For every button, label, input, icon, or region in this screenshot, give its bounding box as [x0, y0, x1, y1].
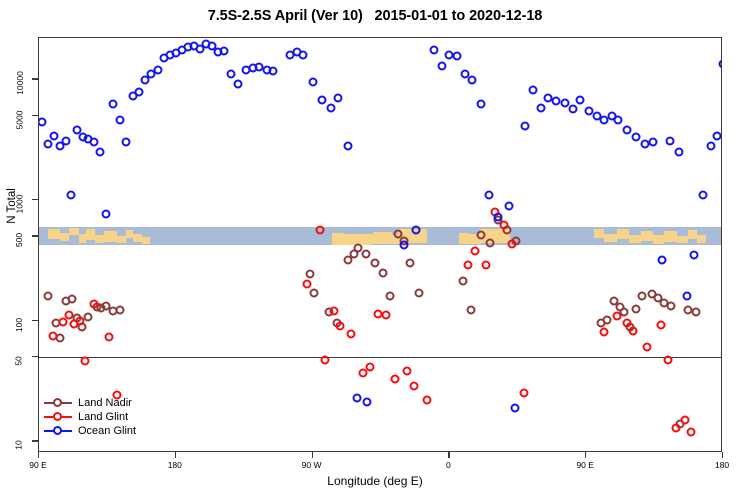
page-title: 7.5S-2.5S April (Ver 10) 2015-01-01 to 2… [0, 8, 750, 24]
data-point [649, 138, 658, 147]
data-point [89, 138, 98, 147]
x-tick-label: 90 E [565, 460, 605, 470]
data-point [481, 260, 490, 269]
data-point [310, 289, 319, 298]
data-point [226, 70, 235, 79]
legend-marker-icon [44, 396, 72, 410]
y-tick-label: 10 [8, 435, 30, 445]
legend-item-land-nadir[interactable]: Land Nadir [44, 396, 164, 410]
data-point [504, 201, 513, 210]
legend-marker-icon [44, 424, 72, 438]
data-point [667, 301, 676, 310]
data-point [614, 116, 623, 125]
data-point [334, 94, 343, 103]
legend-item-land-glint[interactable]: Land Glint [44, 410, 164, 424]
x-tick-label: 0 [428, 460, 468, 470]
data-point [405, 259, 414, 268]
data-point [681, 416, 690, 425]
data-point [302, 280, 311, 289]
data-point [623, 126, 632, 135]
data-point [690, 250, 699, 259]
data-point [603, 315, 612, 324]
data-point [638, 292, 647, 301]
data-point [576, 95, 585, 104]
data-point [68, 295, 77, 304]
data-point [50, 131, 59, 140]
data-point [115, 306, 124, 315]
data-point [643, 343, 652, 352]
data-point [76, 316, 85, 325]
data-point [551, 97, 560, 106]
data-point [390, 374, 399, 383]
data-point [363, 398, 372, 407]
data-point [38, 118, 47, 127]
data-point [326, 103, 335, 112]
data-point [44, 140, 53, 149]
data-point [343, 142, 352, 151]
data-point [115, 116, 124, 125]
x-axis-label: Longitude (deg E) [0, 474, 750, 488]
x-tick-label: 90 W [292, 460, 332, 470]
data-point [269, 66, 278, 75]
data-point [612, 311, 621, 320]
data-point [600, 328, 609, 337]
data-point [220, 46, 229, 55]
data-point [632, 133, 641, 142]
data-point [402, 367, 411, 376]
y-tick-label: 1000 [8, 194, 30, 204]
plot-area [38, 37, 722, 452]
data-point [477, 100, 486, 109]
data-point [234, 79, 243, 88]
data-point [109, 99, 118, 108]
data-point [521, 122, 530, 131]
data-point [632, 304, 641, 313]
data-point [719, 59, 723, 68]
data-point [316, 226, 325, 235]
x-tick-label: 90 E [18, 460, 58, 470]
data-point [366, 363, 375, 372]
x-tick-label: 180 [702, 460, 742, 470]
data-point [656, 321, 665, 330]
data-point [135, 88, 144, 97]
data-point [691, 307, 700, 316]
data-point [320, 356, 329, 365]
x-tick-mark [38, 452, 39, 458]
data-point [494, 213, 503, 222]
data-point [80, 357, 89, 366]
figure-canvas: 7.5S-2.5S April (Ver 10) 2015-01-01 to 2… [0, 0, 750, 500]
x-tick-mark [585, 452, 586, 458]
data-point [89, 299, 98, 308]
data-point [665, 136, 674, 145]
scatter-data-layer [39, 38, 721, 451]
data-point [415, 288, 424, 297]
data-point [486, 239, 495, 248]
data-point [153, 65, 162, 74]
data-point [519, 389, 528, 398]
data-point [468, 76, 477, 85]
x-tick-mark [312, 452, 313, 458]
data-point [104, 333, 113, 342]
data-point [629, 327, 638, 336]
data-point [706, 142, 715, 151]
data-point [386, 292, 395, 301]
data-point [346, 329, 355, 338]
legend-item-ocean-glint[interactable]: Ocean Glint [44, 424, 164, 438]
data-point [95, 147, 104, 156]
data-point [299, 50, 308, 59]
data-point [370, 259, 379, 268]
data-point [430, 45, 439, 54]
data-point [682, 292, 691, 301]
data-point [66, 190, 75, 199]
data-point [422, 395, 431, 404]
data-point [317, 95, 326, 104]
data-point [305, 269, 314, 278]
y-tick-label: 10000 [8, 73, 30, 83]
data-point [471, 246, 480, 255]
data-point [453, 52, 462, 61]
data-point [329, 307, 338, 316]
data-point [674, 147, 683, 156]
y-tick-label: 500 [8, 230, 30, 240]
data-point [335, 322, 344, 331]
data-point [466, 306, 475, 315]
legend-label: Land Glint [78, 410, 128, 424]
data-point [658, 255, 667, 264]
data-point [510, 403, 519, 412]
data-point [712, 131, 721, 140]
data-point [507, 240, 516, 249]
legend-label: Ocean Glint [78, 424, 136, 438]
data-point [463, 260, 472, 269]
data-point [361, 250, 370, 259]
legend-marker-icon [44, 410, 72, 424]
data-point [500, 221, 509, 230]
data-point [44, 292, 53, 301]
data-point [352, 393, 361, 402]
data-point [477, 231, 486, 240]
data-point [65, 310, 74, 319]
data-point [459, 276, 468, 285]
data-point [437, 61, 446, 70]
data-point [536, 103, 545, 112]
data-point [399, 241, 408, 250]
data-point [687, 427, 696, 436]
legend: Land Nadir Land Glint Ocean Glint [44, 396, 164, 438]
data-point [308, 78, 317, 87]
legend-label: Land Nadir [78, 396, 132, 410]
data-point [699, 190, 708, 199]
data-point [484, 190, 493, 199]
data-point [671, 423, 680, 432]
data-point [378, 268, 387, 277]
y-tick-label: 50 [8, 351, 30, 361]
data-point [664, 356, 673, 365]
y-tick-label: 100 [8, 315, 30, 325]
data-point [568, 104, 577, 113]
data-point [411, 226, 420, 235]
data-point [48, 331, 57, 340]
data-point [62, 136, 71, 145]
y-tick-label: 5000 [8, 110, 30, 120]
data-point [529, 85, 538, 94]
x-tick-mark [175, 452, 176, 458]
x-tick-mark [722, 452, 723, 458]
data-point [410, 381, 419, 390]
data-point [101, 210, 110, 219]
x-tick-mark [448, 452, 449, 458]
x-tick-label: 180 [155, 460, 195, 470]
data-point [121, 138, 130, 147]
data-point [381, 310, 390, 319]
